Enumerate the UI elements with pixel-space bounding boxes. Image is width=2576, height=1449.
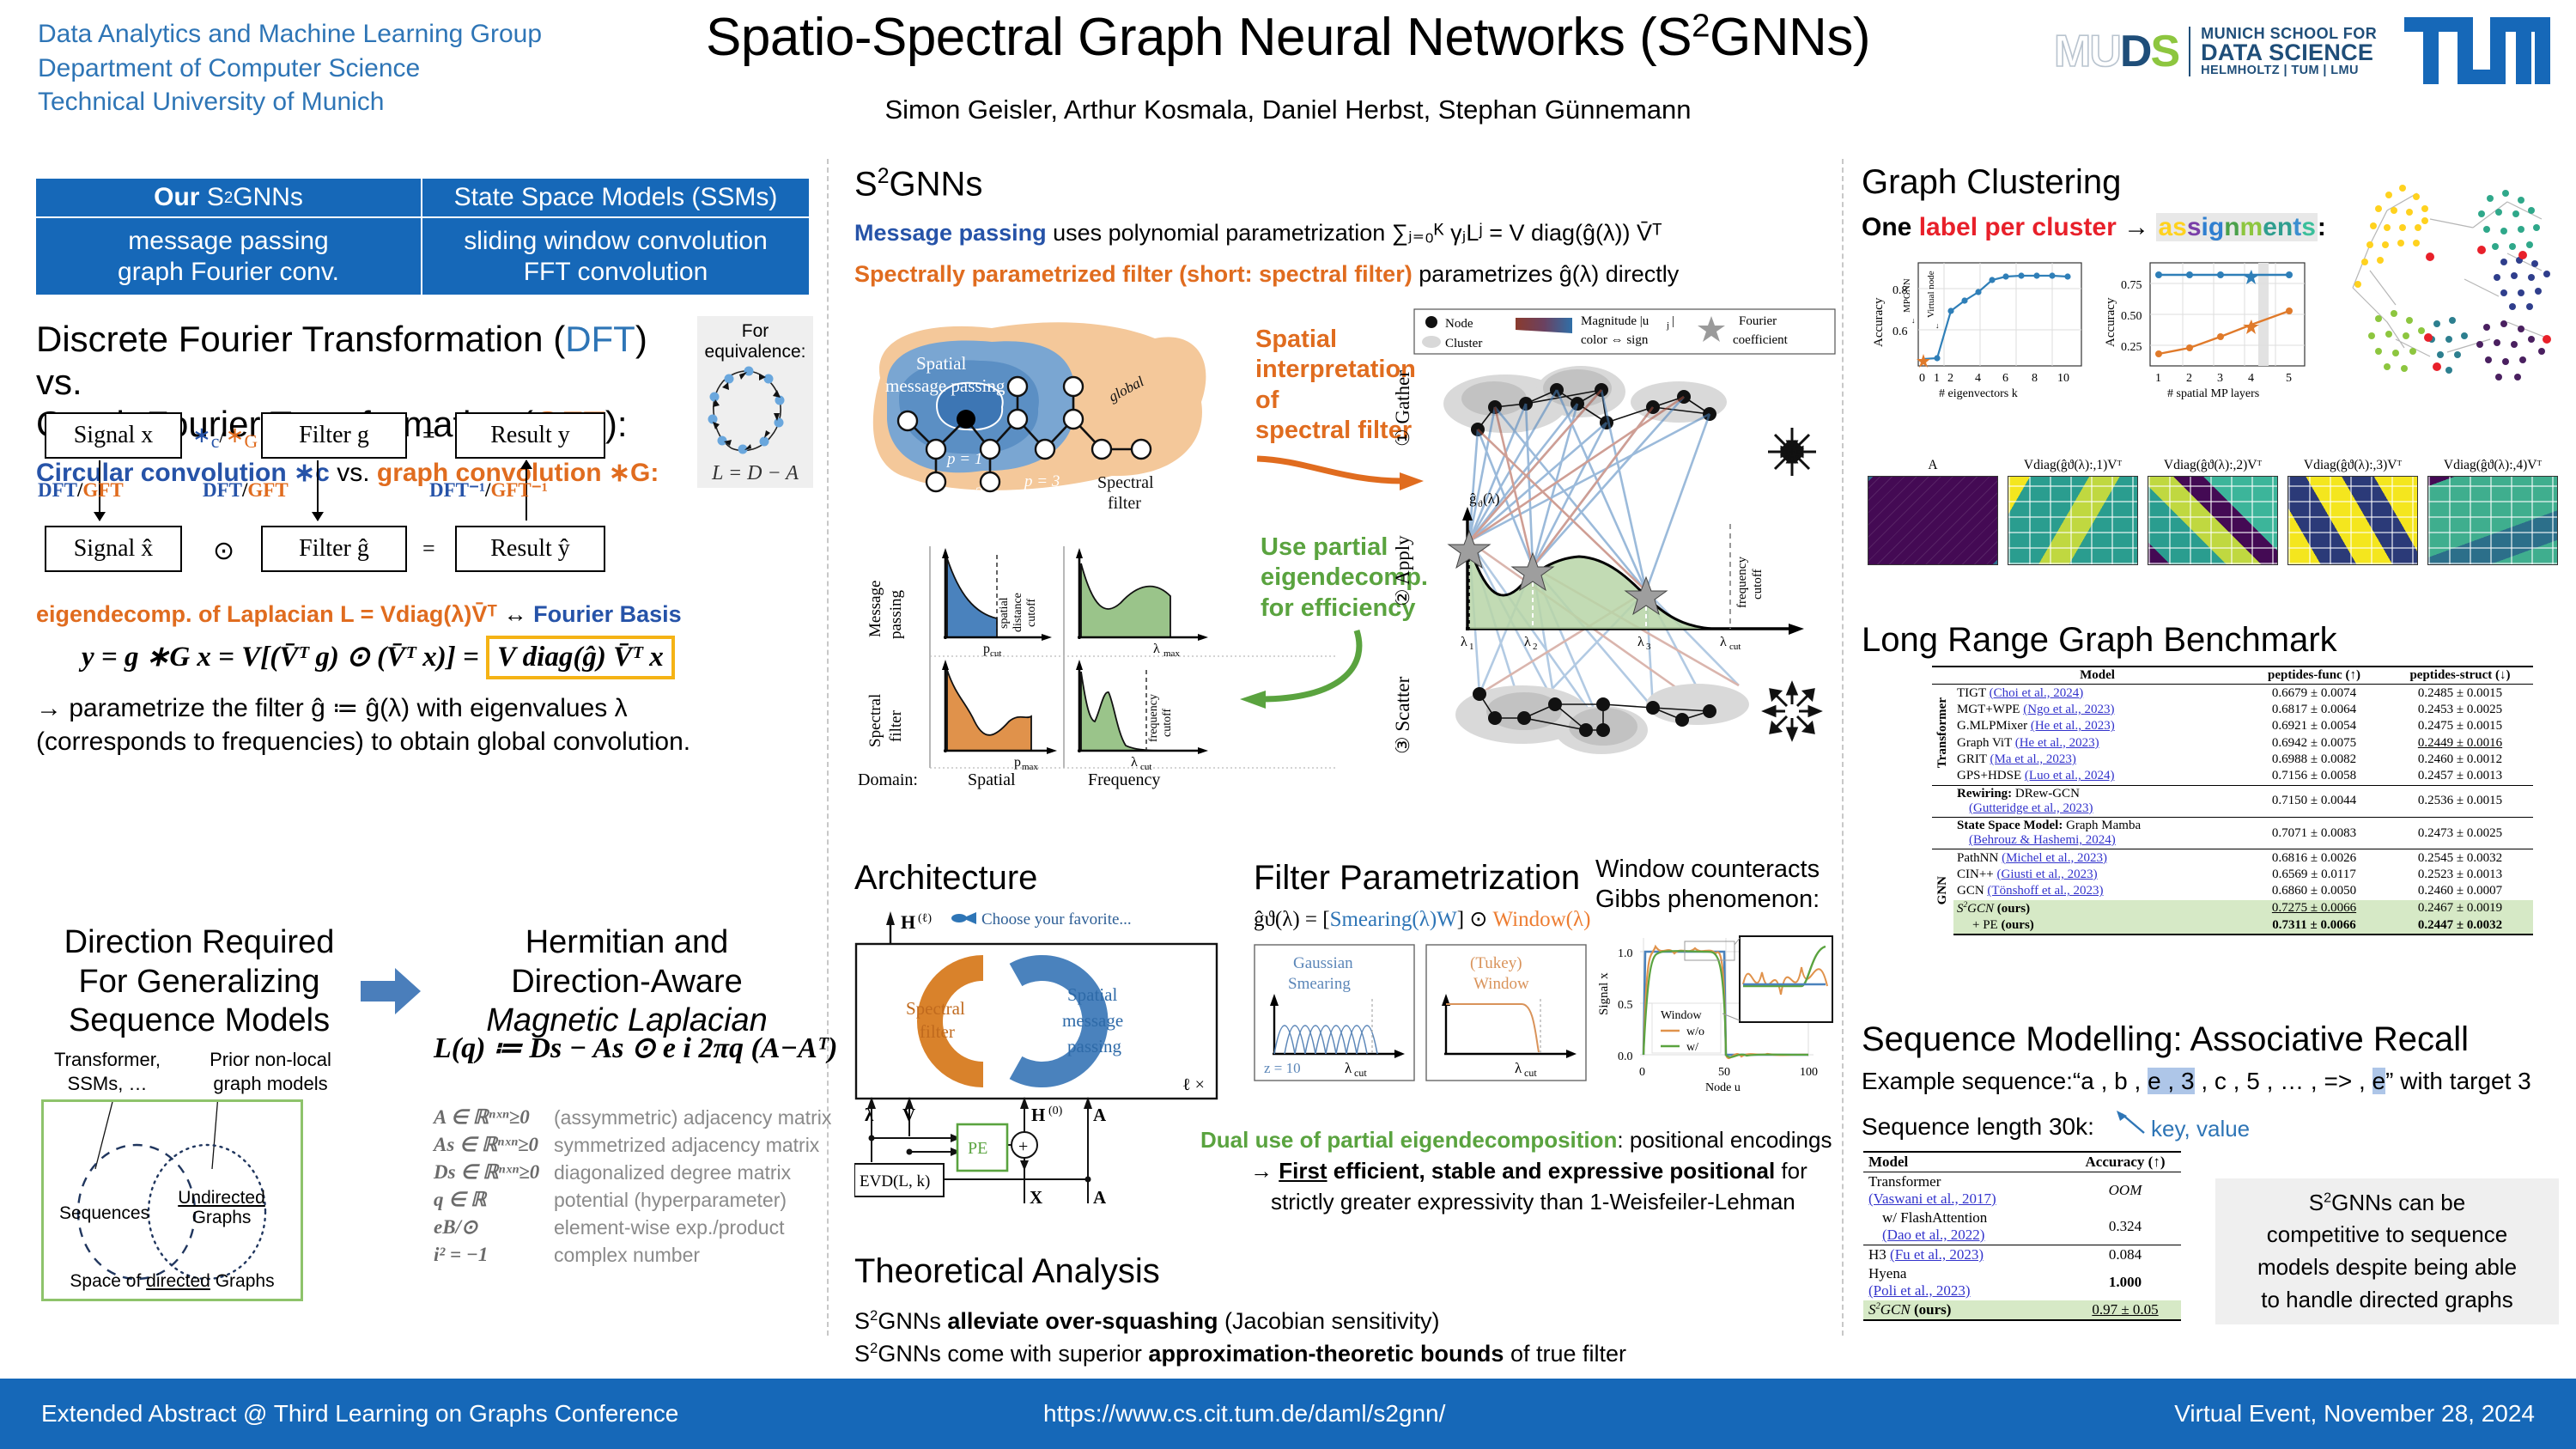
filter-g-box: Filter g <box>261 412 407 459</box>
comparison-c1-row1: message passing <box>128 227 328 256</box>
matrix-cell: Vdiag(ĝϑ(λ):,2)Vᵀ <box>2148 458 2278 569</box>
seq-acc: 0.97 ± 0.05 <box>2069 1300 2181 1320</box>
svg-text:λ: λ <box>1345 1060 1352 1076</box>
magnetic-laplacian-formula: L(q) ≔ Ds − As ⊙ e i 2πq (A−Aᵀ) <box>434 1031 837 1065</box>
svg-text:10: 10 <box>2057 372 2069 385</box>
message-passing-line: Message passing uses polynomial parametr… <box>854 216 1825 249</box>
svg-text:50: 50 <box>1718 1066 1730 1079</box>
svg-text:H: H <box>1031 1105 1045 1125</box>
arrow-g-to-ghat <box>317 460 319 521</box>
comparison-col1-body: message passing graph Fourier conv. <box>36 218 422 295</box>
dir-line3: Sequence Models <box>36 1002 362 1041</box>
seq-acc: 1.000 <box>2069 1264 2181 1300</box>
lrgb-model: TIGT (Choi et al., 2024) <box>1953 685 2241 702</box>
svg-text:5: 5 <box>2286 372 2292 385</box>
lrgb-struct: 0.2467 ± 0.0019 <box>2387 900 2533 917</box>
svg-text:cutoff: cutoff <box>1161 708 1174 737</box>
lrgb-header-row: Model peptides-func (↑) peptides-struct … <box>1932 667 2533 685</box>
lrgb-heading: Long Range Graph Benchmark <box>1862 621 2337 660</box>
key-value-annotation: key, value <box>2151 1116 2250 1142</box>
svg-text:passing: passing <box>1067 1036 1122 1056</box>
svg-text:message: message <box>1062 1010 1123 1031</box>
lrgb-row-ssm: State Space Model: Graph Mamba(Behrouz &… <box>1932 818 2533 849</box>
theory-line1: S2GNNs alleviate over-squashing (Jacobia… <box>854 1305 1833 1337</box>
symbol-row: i² = −1complex number <box>434 1241 831 1269</box>
svg-text:Cluster: Cluster <box>1445 337 1482 350</box>
svg-text:EVD(L, k): EVD(L, k) <box>860 1172 930 1190</box>
lrgb-table: Model peptides-func (↑) peptides-struct … <box>1932 666 2533 935</box>
spectral-filter-line: Spectrally parametrized filter (short: s… <box>854 258 1825 290</box>
svg-text:# eigenvectors k: # eigenvectors k <box>1939 387 2018 399</box>
svg-text:H: H <box>901 911 915 933</box>
lrgb-model: GPS+HDSE (Luo et al., 2024) <box>1953 768 2241 785</box>
lrgb-row: CIN++ (Giusti et al., 2023) 0.6569 ± 0.0… <box>1932 867 2533 883</box>
message-passing-bold: Message passing <box>854 220 1047 246</box>
seq-header-row: Model Accuracy (↑) <box>1863 1152 2181 1172</box>
fourier-basis-text: Fourier Basis <box>533 601 682 627</box>
svg-text:λ: λ <box>1131 755 1138 770</box>
svg-text:λ: λ <box>1153 642 1160 656</box>
dft-token: DFT <box>565 319 635 359</box>
laplacian-definition: L = D − A <box>697 462 813 486</box>
seq-acc: 0.084 <box>2069 1245 2181 1265</box>
conclusion-callout: S2GNNs can be competitive to sequence mo… <box>2215 1178 2559 1324</box>
matrix-caption: Vdiag(ĝϑ(λ):,3)Vᵀ <box>2287 458 2418 473</box>
symbol-row: Ds ∈ ℝⁿˣⁿ≥0diagonalized degree matrix <box>434 1159 831 1186</box>
dual-use-line1: Dual use of partial eigendecomposition: … <box>1200 1125 1844 1156</box>
dir-line1: Direction Required <box>36 923 362 963</box>
group-label-gnn: GNN <box>1932 849 1953 935</box>
main-equation-lhs: y = g ∗G x = V[(V̄ᵀ g) ⊙ (V̄ᵀ x)] = <box>82 642 486 673</box>
svg-text:3: 3 <box>2217 372 2223 385</box>
gibbs-plot: Signal x 1.0 0.5 0.0 0 50 100 Node u Win… <box>1595 921 1836 1093</box>
svg-text:Accuracy: Accuracy <box>2104 297 2117 347</box>
svg-text:② Apply: ② Apply <box>1395 535 1413 606</box>
svg-text:↓: ↓ <box>1935 321 1940 330</box>
kv-highlight-2: e <box>2372 1068 2386 1094</box>
filter-heatmap-4 <box>2427 476 2558 565</box>
svg-text:λ: λ <box>1637 635 1644 649</box>
svg-text:λ: λ <box>1461 635 1467 649</box>
lrgb-struct: 0.2453 ± 0.0025 <box>2387 702 2533 718</box>
lrgb-col-func: peptides-func (↑) <box>2241 667 2387 685</box>
lrgb-row-ours-pe: + PE (ours) 0.7311 ± 0.0066 0.2447 ± 0.0… <box>1932 917 2533 935</box>
herm-line2: Direction-Aware <box>438 963 816 1002</box>
svg-text:cut: cut <box>1354 1067 1367 1079</box>
svg-text:|: | <box>1672 314 1674 328</box>
lrgb-model: Graph ViT (He et al., 2023) <box>1953 735 2241 752</box>
svg-text:max: max <box>1163 648 1180 659</box>
affiliation-block: Data Analytics and Machine Learning Grou… <box>38 17 542 119</box>
affiliation-line-1: Data Analytics and Machine Learning Grou… <box>38 17 542 52</box>
result-y-box: Result y <box>455 412 605 459</box>
lrgb-model: GCN (Tönshoff et al., 2023) <box>1953 883 2241 899</box>
svg-text:Magnitude |u: Magnitude |u <box>1581 314 1649 328</box>
seq-acc: OOM <box>2069 1172 2181 1209</box>
svg-text:MPGNN: MPGNN <box>1902 278 1912 313</box>
svg-text:8: 8 <box>2032 372 2038 385</box>
svg-text:spatial: spatial <box>998 597 1011 629</box>
clustering-subheading: One label per cluster → assignments: <box>1862 213 2326 242</box>
s2gnns-heading: S2GNNs <box>854 165 982 204</box>
svg-text:(λ): (λ) <box>1483 490 1500 507</box>
our-label: Our <box>154 183 199 212</box>
lrgb-struct: 0.2545 ± 0.0032 <box>2387 849 2533 867</box>
lrgb-struct: 0.2457 ± 0.0013 <box>2387 768 2533 785</box>
seq-row: Hyena(Poli et al., 2023) 1.000 <box>1863 1264 2181 1300</box>
lrgb-struct: 0.2460 ± 0.0007 <box>2387 883 2533 899</box>
seq-row: Transformer(Vaswani et al., 2017) OOM <box>1863 1172 2181 1209</box>
lrgb-struct: 0.2447 ± 0.0032 <box>2387 917 2533 935</box>
footer-url[interactable]: https://www.cs.cit.tum.de/daml/s2gnn/ <box>1043 1400 1445 1428</box>
adjacency-heatmap <box>1868 476 1998 565</box>
seq-row-ours: S2GCN (ours) 0.97 ± 0.05 <box>1863 1300 2181 1320</box>
lrgb-func: 0.7156 ± 0.0058 <box>2241 768 2387 785</box>
seq-model: w/ FlashAttention(Dao et al., 2022) <box>1863 1209 2069 1245</box>
seq-row: H3 (Fu et al., 2023) 0.084 <box>1863 1245 2181 1265</box>
seq-model: Hyena(Poli et al., 2023) <box>1863 1264 2069 1300</box>
svg-text:1: 1 <box>1469 642 1474 652</box>
seq-model: H3 (Fu et al., 2023) <box>1863 1245 2069 1265</box>
equals-1: = <box>422 423 435 448</box>
svg-text:passing: passing <box>887 590 905 640</box>
symbol-table-body: A ∈ ℝⁿˣⁿ≥0(assymmetric) adjacency matrix… <box>434 1104 831 1269</box>
venn-diagram: Sequences Undirected Graphs Space of dir… <box>41 1099 303 1301</box>
main-equation: y = g ∗G x = V[(V̄ᵀ g) ⊙ (V̄ᵀ x)] = V di… <box>82 636 675 679</box>
lrgb-model: Rewiring: DRew-GCN(Gutteridge et al., 20… <box>1953 785 2241 817</box>
comparison-c2-row2: FFT convolution <box>524 258 708 287</box>
lrgb-func: 0.6816 ± 0.0026 <box>2241 849 2387 867</box>
lrgb-row-rewiring: Rewiring: DRew-GCN(Gutteridge et al., 20… <box>1932 785 2533 817</box>
equivalence-box: For equivalence: L = D − A <box>697 316 813 488</box>
svg-text:max: max <box>1022 762 1038 772</box>
svg-text:2: 2 <box>2186 372 2192 385</box>
svg-text:color ⇔ sign: color ⇔ sign <box>1581 333 1649 347</box>
svg-text:ĝ: ĝ <box>1469 490 1477 507</box>
svg-text:Fourier: Fourier <box>1739 314 1777 328</box>
svg-text:(0): (0) <box>1048 1105 1063 1117</box>
svg-text:(Tukey): (Tukey) <box>1470 954 1522 972</box>
venn-sequences-label: Sequences <box>59 1203 149 1224</box>
direction-required-heading: Direction Required For Generalizing Sequ… <box>36 923 362 1041</box>
dir-line2: For Generalizing <box>36 963 362 1002</box>
svg-text:Spectral: Spectral <box>1097 473 1154 492</box>
svg-text:p: p <box>983 642 990 656</box>
poster-header: Data Analytics and Machine Learning Grou… <box>0 0 2576 150</box>
svg-text:0: 0 <box>1639 1066 1645 1079</box>
lrgb-func: 0.7071 ± 0.0083 <box>2241 818 2387 849</box>
lrgb-col-model: Model <box>1953 667 2241 685</box>
right-arrow-icon <box>361 966 422 1016</box>
assignments-colored: assignments <box>2156 213 2317 241</box>
filter-param-heading: Filter Parametrization <box>1254 859 1597 898</box>
svg-text:PE: PE <box>968 1139 987 1158</box>
clustered-graph-visualization <box>2336 167 2576 399</box>
hermitian-heading: Hermitian and Direction-Aware Magnetic L… <box>438 923 816 1041</box>
heading-part-a: Discrete Fourier Transformation ( <box>36 319 565 359</box>
svg-text:cutoff: cutoff <box>1025 598 1038 627</box>
comparison-col1-header: Our S2GNNs <box>36 179 422 218</box>
lrgb-row: GCN (Tönshoff et al., 2023) 0.6860 ± 0.0… <box>1932 883 2533 899</box>
matrix-caption: Vdiag(ĝϑ(λ):,1)Vᵀ <box>2008 458 2138 473</box>
svg-text:distance: distance <box>1012 593 1024 632</box>
svg-text:6: 6 <box>2002 372 2008 385</box>
svg-text:λ: λ <box>865 1105 874 1125</box>
comparison-table: Our S2GNNs State Space Models (SSMs) mes… <box>36 179 809 295</box>
svg-text:0.0: 0.0 <box>1618 1050 1633 1063</box>
svg-text:Window: Window <box>1661 1009 1703 1022</box>
svg-text:Node: Node <box>1445 317 1473 331</box>
svg-text:0.25: 0.25 <box>2121 341 2142 354</box>
lrgb-struct: 0.2473 ± 0.0025 <box>2387 818 2533 849</box>
filter-heatmap-1 <box>2008 476 2138 565</box>
signal-xhat-box: Signal x̂ <box>45 526 182 572</box>
svg-text:ℓ ×: ℓ × <box>1182 1075 1205 1094</box>
svg-text:X: X <box>1030 1187 1042 1208</box>
svg-text:A: A <box>1093 1105 1107 1125</box>
page-title: Spatio-Spectral Graph Neural Networks (S… <box>601 7 1975 68</box>
lrgb-func: 0.6921 ± 0.0054 <box>2241 718 2387 734</box>
lrgb-model: GRIT (Ma et al., 2023) <box>1953 752 2241 768</box>
symbol-row: As ∈ ℝⁿˣⁿ≥0symmetrized adjacency matrix <box>434 1131 831 1159</box>
architecture-heading: Architecture <box>854 859 1284 898</box>
kv-arrow-icon <box>2115 1111 2149 1135</box>
lrgb-model: State Space Model: Graph Mamba(Behrouz &… <box>1953 818 2241 849</box>
symbol-row: eB/⊙element-wise exp./product <box>434 1214 831 1241</box>
lrgb-func: 0.6988 ± 0.0082 <box>2241 752 2387 768</box>
svg-text:③ Scatter: ③ Scatter <box>1395 676 1413 754</box>
clustering-charts-svg: Accuracy 0.8 0.6 MPGNN Virtual node ↓↓ 0… <box>1870 258 2351 399</box>
lrgb-col-struct: peptides-struct (↓) <box>2387 667 2533 685</box>
svg-text:0.6: 0.6 <box>1893 326 1908 338</box>
main-equation-boxed: V diag(ĝ) V̄ᵀ x <box>486 636 675 679</box>
svg-text:Smearing: Smearing <box>1288 975 1351 993</box>
matrix-caption: A <box>1868 458 1998 473</box>
matrix-cell: Vdiag(ĝϑ(λ):,1)Vᵀ <box>2008 458 2138 569</box>
conclusion-text: S2GNNs can be competitive to sequence mo… <box>2257 1187 2517 1317</box>
svg-text:① Gather: ① Gather <box>1395 370 1413 447</box>
gas-svg: Node Cluster Magnitude |u j | color ⇔ si… <box>1395 307 1842 776</box>
svg-text:cut: cut <box>1729 642 1741 652</box>
result-yhat-box: Result ŷ <box>455 526 605 572</box>
svg-text:frequency: frequency <box>1735 557 1749 608</box>
transform-label-3: DFT⁻¹/GFT⁻¹ <box>429 479 548 502</box>
svg-text:Window: Window <box>1473 975 1529 993</box>
svg-text:3: 3 <box>1646 642 1651 652</box>
svg-text:message passing: message passing <box>885 375 1005 396</box>
filter-ghat-box: Filter ĝ <box>261 526 407 572</box>
muds-wordmark: MUDS <box>2054 29 2178 74</box>
seq-col-acc: Accuracy (↑) <box>2069 1152 2181 1172</box>
svg-text:λ: λ <box>1524 635 1531 649</box>
sequence-example: Example sequence:“a , b , e , 3 , c , 5 … <box>1862 1068 2531 1095</box>
svg-text:(ℓ): (ℓ) <box>918 912 932 925</box>
svg-text:p = 3: p = 3 <box>1023 472 1060 490</box>
symbol-row: A ∈ ℝⁿˣⁿ≥0(assymmetric) adjacency matrix <box>434 1104 831 1131</box>
svg-text:0.75: 0.75 <box>2121 279 2142 292</box>
svg-text:j: j <box>1666 320 1669 331</box>
eigendecomposition-line: eigendecomp. of Laplacian L = Vdiag(λ)V̄… <box>36 601 682 628</box>
svg-text:λ: λ <box>1515 1060 1522 1076</box>
matrix-caption: Vdiag(ĝϑ(λ):,4)Vᵀ <box>2427 458 2558 473</box>
dual-use-line3: strictly greater expressivity than 1-Wei… <box>1271 1187 1844 1218</box>
lrgb-func: 0.7311 ± 0.0066 <box>2241 917 2387 935</box>
conv-operator: ∗c/∗G <box>192 423 258 453</box>
parametrize-text: → parametrize the filter ĝ ≔ ĝ(λ) with e… <box>36 691 690 758</box>
svg-text:+: + <box>1018 1137 1028 1156</box>
lrgb-model: G.MLPMixer (He et al., 2023) <box>1953 718 2241 734</box>
convolution-flow-diagram: Signal x ∗c/∗G Filter g = Result y DFT/G… <box>45 412 663 584</box>
comparison-col2-body: sliding window convolution FFT convoluti… <box>422 218 809 295</box>
gaussian-smearing-plot: Gaussian Smearing z = 10 λ cut <box>1254 944 1415 1081</box>
muds-textblock: MUNICH SCHOOL FOR DATA SCIENCE HELMHOLTZ… <box>2201 26 2377 77</box>
svg-text:↓: ↓ <box>1911 316 1916 325</box>
hadamard-operator: ⊙ <box>213 536 234 566</box>
eigendecomp-text: eigendecomp. of Laplacian L = Vdiag(λ)V̄… <box>36 601 497 627</box>
svg-text:100: 100 <box>1800 1066 1818 1079</box>
svg-text:1: 1 <box>2155 372 2161 385</box>
theory-heading: Theoretical Analysis <box>854 1252 1833 1291</box>
seq-col-model: Model <box>1863 1152 2069 1172</box>
parametrize-line1: → parametrize the filter ĝ ≔ ĝ(λ) with e… <box>36 691 690 725</box>
lrgb-func: 0.6679 ± 0.0074 <box>2241 685 2387 702</box>
graph-clustering-heading: Graph Clustering <box>1862 163 2121 202</box>
parametrize-line2: (corresponds to frequencies) to obtain g… <box>36 725 690 758</box>
lrgb-row: G.MLPMixer (He et al., 2023) 0.6921 ± 0.… <box>1932 718 2533 734</box>
svg-text:2: 2 <box>1533 642 1538 652</box>
svg-text:filter: filter <box>1108 494 1141 513</box>
dual-use-line2: → First efficient, stable and expressive… <box>1250 1156 1844 1187</box>
svg-text:λ: λ <box>1720 635 1727 649</box>
eigendecomp-arrow: ↔ <box>497 601 533 627</box>
muds-divider <box>2189 27 2190 76</box>
filter-heatmap-2 <box>2148 476 2278 565</box>
seq-model: S2GCN (ours) <box>1863 1300 2069 1320</box>
svg-text:z = 10: z = 10 <box>1264 1060 1301 1076</box>
kv-highlight-1: e , 3 <box>2148 1068 2194 1094</box>
gather-apply-scatter-diagram: Node Cluster Magnitude |u j | color ⇔ si… <box>1395 307 1842 776</box>
svg-text:p = 1: p = 1 <box>945 450 982 468</box>
filter-heatmap-3 <box>2287 476 2418 565</box>
seq-model: Transformer(Vaswani et al., 2017) <box>1863 1172 2069 1209</box>
svg-text:cut: cut <box>1524 1067 1537 1079</box>
svg-text:1: 1 <box>1934 372 1940 385</box>
svg-text:Gaussian: Gaussian <box>1293 954 1353 972</box>
svg-text:local: local <box>894 484 927 509</box>
matrix-cell: A <box>1868 458 1998 569</box>
lrgb-row: GNN PathNN (Michel et al., 2023) 0.6816 … <box>1932 849 2533 867</box>
svg-text:2: 2 <box>1947 372 1953 385</box>
symbol-table: A ∈ ℝⁿˣⁿ≥0(assymmetric) adjacency matrix… <box>434 1104 831 1269</box>
lrgb-struct: 0.2449 ± 0.0016 <box>2387 735 2533 752</box>
lrgb-struct: 0.2536 ± 0.0015 <box>2387 785 2533 817</box>
comparison-c2-row1: sliding window convolution <box>464 227 768 256</box>
lrgb-model: S2GCN (ours) <box>1953 900 2241 917</box>
svg-text:filter: filter <box>887 709 905 742</box>
svg-text:Spatial: Spatial <box>1067 984 1117 1005</box>
svg-text:V: V <box>902 1105 915 1125</box>
svg-text:Spatial: Spatial <box>916 353 966 374</box>
lrgb-func: 0.6569 ± 0.0117 <box>2241 867 2387 883</box>
lrgb-model: PathNN (Michel et al., 2023) <box>1953 849 2241 867</box>
filter-param-formula: ĝϑ(λ) = [Smearing(λ)W] ⊙ Window(λ) <box>1254 906 1597 932</box>
affiliation-line-2: Department of Computer Science <box>38 52 542 86</box>
lrgb-func: 0.7150 ± 0.0044 <box>2241 785 2387 817</box>
svg-text:Spectral: Spectral <box>866 694 884 747</box>
filter-parametrization-section: Filter Parametrization ĝϑ(λ) = [Smearing… <box>1254 859 1597 1081</box>
lrgb-struct: 0.2475 ± 0.0015 <box>2387 718 2533 734</box>
symbol-row: q ∈ ℝpotential (hyperparameter) <box>434 1186 831 1214</box>
svg-text:Signal x: Signal x <box>1597 972 1611 1015</box>
cluster-graph-svg <box>2336 167 2576 399</box>
svg-text:A: A <box>1093 1187 1107 1208</box>
lrgb-func: 0.6860 ± 0.0050 <box>2241 883 2387 899</box>
svg-text:Spectral: Spectral <box>906 998 965 1019</box>
tukey-window-plot: (Tukey) Window λ cut <box>1425 944 1587 1081</box>
lrgb-func: 0.6817 ± 0.0064 <box>2241 702 2387 718</box>
svg-text:1.0: 1.0 <box>1618 947 1633 960</box>
svg-text:w/: w/ <box>1686 1041 1698 1054</box>
svg-text:0.5: 0.5 <box>1618 999 1633 1012</box>
matrix-cell: Vdiag(ĝϑ(λ):,4)Vᵀ <box>2427 458 2558 569</box>
green-arrow-icon <box>1209 625 1372 720</box>
lrgb-row: GPS+HDSE (Luo et al., 2024) 0.7156 ± 0.0… <box>1932 768 2533 785</box>
muds-logo: MUDS MUNICH SCHOOL FOR DATA SCIENCE HELM… <box>2054 19 2377 84</box>
transform-label-2: DFT/GFT <box>203 479 289 502</box>
transform-label-1: DFT/GFT <box>38 479 124 502</box>
svg-text:cut: cut <box>990 648 1001 659</box>
clustering-charts: Accuracy 0.8 0.6 MPGNN Virtual node ↓↓ 0… <box>1870 258 2351 395</box>
lrgb-model: MGT+WPE (Ngo et al., 2023) <box>1953 702 2241 718</box>
spectral-filter-bold: Spectrally parametrized filter (short: s… <box>854 261 1413 287</box>
svg-text:cutoff: cutoff <box>1751 569 1765 600</box>
author-list: Simon Geisler, Arthur Kosmala, Daniel He… <box>601 94 1975 125</box>
equivalence-line1: For <box>697 321 813 342</box>
comparison-c1-row2: graph Fourier conv. <box>118 258 339 287</box>
muds-line2: DATA SCIENCE <box>2201 41 2377 64</box>
svg-text:coefficient: coefficient <box>1733 333 1789 347</box>
spectral-filter-rest: parametrizes ĝ(λ) directly <box>1413 261 1680 287</box>
window-gibbs-section: Window counteracts Gibbs phenomenon: Sig… <box>1595 855 1844 1093</box>
theoretical-analysis-section: Theoretical Analysis S2GNNs alleviate ov… <box>854 1252 1833 1371</box>
lrgb-row: MGT+WPE (Ngo et al., 2023) 0.6817 ± 0.00… <box>1932 702 2533 718</box>
affiliation-line-3: Technical University of Munich <box>38 85 542 119</box>
venn-undirected-label: Undirected Graphs <box>174 1188 269 1227</box>
filter-param-plots: Gaussian Smearing z = 10 λ cut (Tukey) <box>1254 944 1597 1081</box>
lrgb-struct: 0.2485 ± 0.0015 <box>2387 685 2533 702</box>
matrix-cell: Vdiag(ĝϑ(λ):,3)Vᵀ <box>2287 458 2418 569</box>
svg-text:frequency: frequency <box>1147 694 1160 742</box>
venn-label-right: Prior non-local graph models <box>189 1048 352 1095</box>
venn-top-labels: Transformer, SSMs, … Prior non-local gra… <box>34 1048 352 1095</box>
equals-2: = <box>422 536 435 562</box>
svg-text:w/o: w/o <box>1686 1026 1704 1038</box>
dual-use-claim: Dual use of partial eigendecomposition: … <box>1200 1125 1844 1218</box>
svg-text:Node u: Node u <box>1705 1081 1741 1093</box>
svg-text:Accuracy: Accuracy <box>1872 297 1886 347</box>
group-label-transformer: Transformer <box>1932 685 1953 785</box>
lrgb-row: GRIT (Ma et al., 2023) 0.6988 ± 0.0082 0… <box>1932 752 2533 768</box>
seq-row: w/ FlashAttention(Dao et al., 2022) 0.32… <box>1863 1209 2181 1245</box>
svg-text:Message: Message <box>866 581 884 637</box>
svg-text:p: p <box>1014 755 1021 770</box>
svg-text:Frequency: Frequency <box>1088 770 1160 789</box>
lrgb-row: Graph ViT (He et al., 2023) 0.6942 ± 0.0… <box>1932 735 2533 752</box>
sequence-table: Model Accuracy (↑) Transformer(Vaswani e… <box>1863 1151 2181 1321</box>
equivalence-line2: equivalence: <box>697 342 813 362</box>
choose-favorite-label: Choose your favorite... <box>981 910 1132 928</box>
tum-logo <box>2404 17 2550 84</box>
